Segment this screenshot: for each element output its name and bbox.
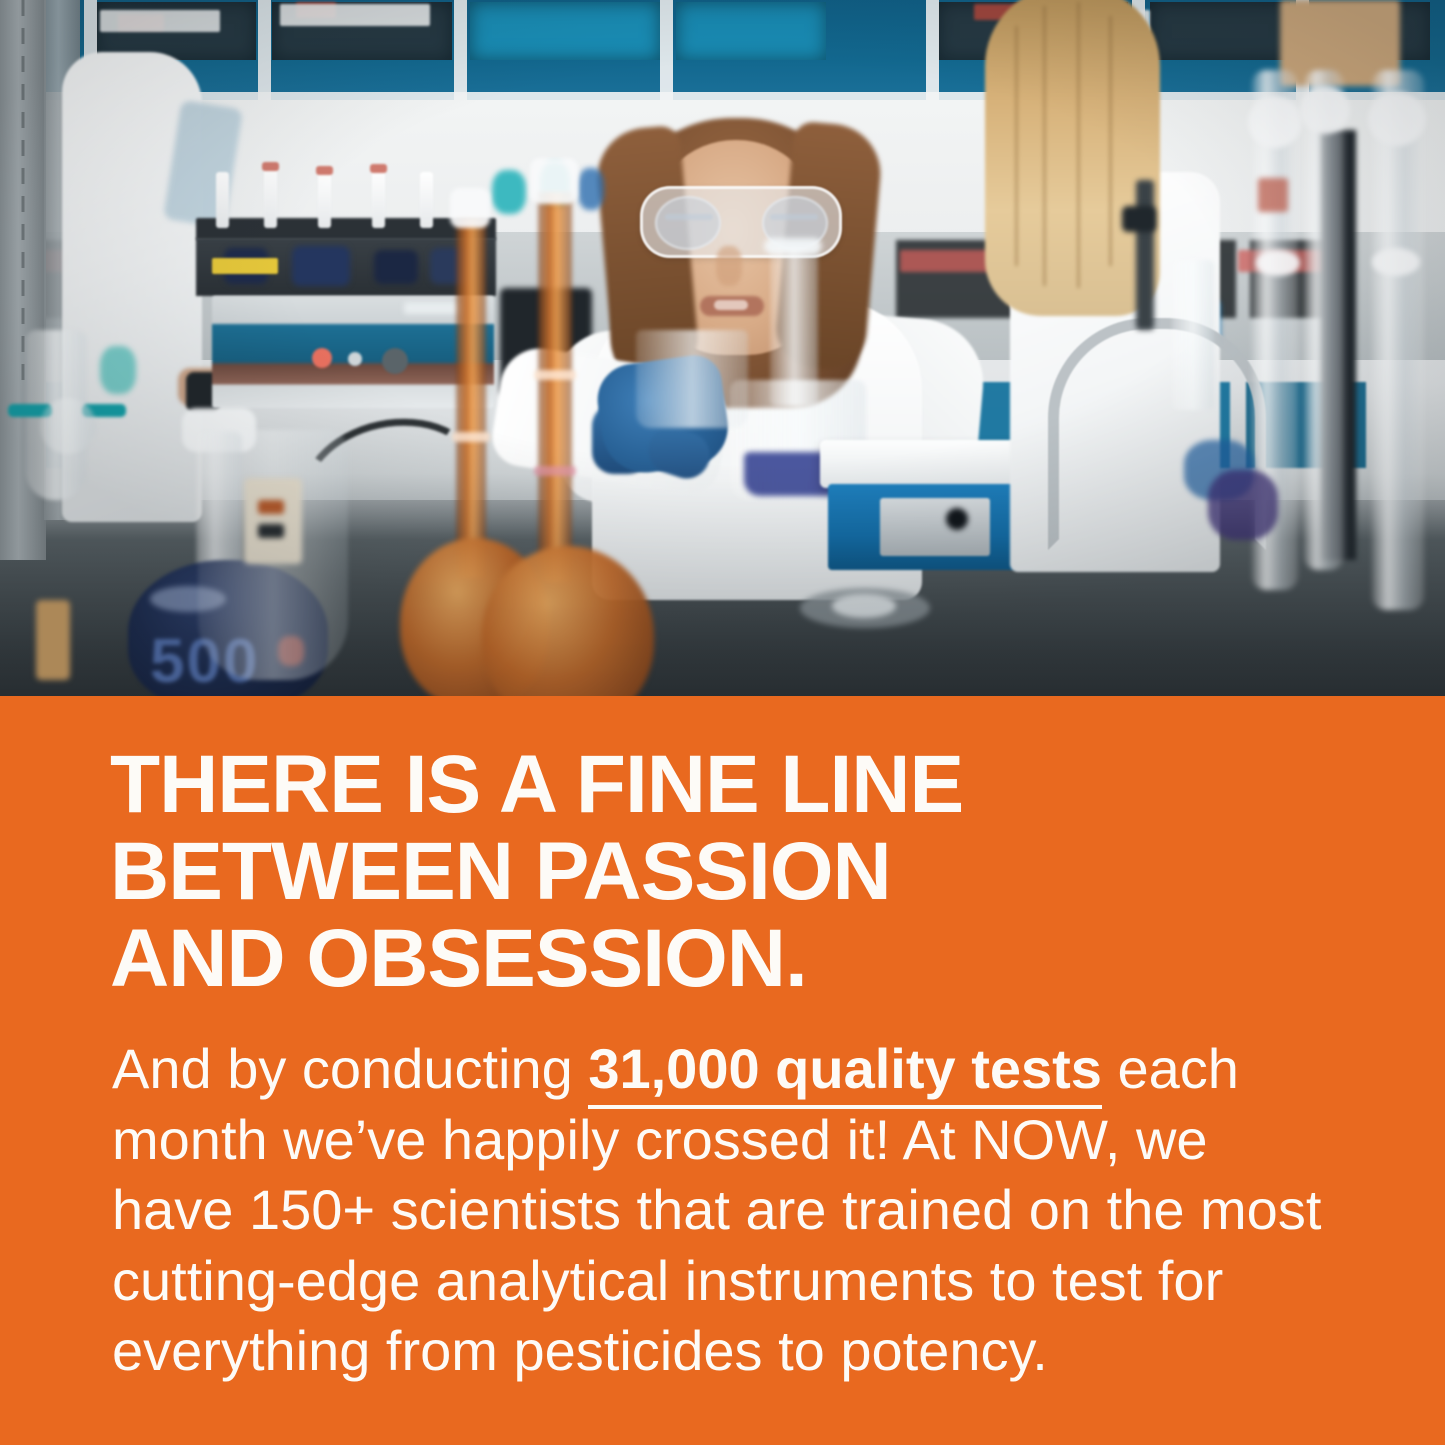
balance-knob [946, 508, 968, 530]
sample-vial [372, 168, 385, 228]
headline: THERE IS A FINE LINE BETWEEN PASSION AND… [110, 742, 1360, 1003]
instrument-knob-large [382, 348, 408, 374]
flask-rim-highlight [764, 238, 822, 254]
pipette-stand [1136, 180, 1154, 330]
vial-cap [370, 164, 387, 173]
teeth [714, 300, 748, 310]
glass-column [1304, 70, 1344, 570]
glass-column-cap [1248, 96, 1302, 148]
glass-column-cap [1368, 92, 1426, 146]
instrument-indicator-red [312, 348, 332, 368]
balance-display [880, 498, 990, 556]
amber-flask-neck [456, 218, 486, 578]
sample-vial [318, 170, 331, 228]
vial-cap [262, 162, 279, 171]
glass-column-cap [1300, 86, 1350, 134]
amber-flask-ring [534, 370, 576, 380]
instrument-vial-dark [374, 250, 418, 284]
flask-stopper-left [40, 398, 96, 454]
shelf-item-white [280, 4, 430, 26]
bottle-teal-bg [100, 346, 136, 394]
cabinet-frame [926, 0, 939, 100]
sample-vial [420, 172, 433, 228]
cabinet-glass-pane [676, 2, 826, 60]
cabinet-glass-pane [1150, 2, 1290, 60]
cabinet-glass-pane [470, 2, 660, 60]
scientist-right-blonde-hair [985, 0, 1160, 316]
instrument-vial-dark [292, 246, 350, 286]
outlet-socket [258, 500, 284, 514]
cabinet-frame [258, 0, 271, 100]
instrument-display-strip [404, 302, 462, 314]
clamp-knob [1122, 206, 1156, 232]
outlet-socket [258, 524, 284, 538]
instrument-label-yellow [212, 258, 278, 274]
sample-vial [216, 172, 229, 228]
glass-column-ring [1256, 250, 1300, 276]
bottle-teal-bg [492, 170, 526, 214]
cork-piece [36, 600, 70, 680]
electrical-outlet [244, 478, 302, 564]
glassware-right [1172, 260, 1214, 410]
amber-flask-stopper [450, 188, 490, 228]
advertisement-card: 500 THERE IS A FINE LINE BETWEEN PASSION… [0, 0, 1445, 1445]
vial-cap [316, 166, 333, 175]
amber-flask-ring [534, 466, 576, 476]
highlight-quality-tests: 31,000 quality tests [588, 1037, 1102, 1109]
cabinet-frame [454, 0, 467, 100]
nose [716, 246, 742, 286]
flask-purple-bg [1208, 470, 1278, 540]
shelf-item-white [100, 10, 220, 32]
amber-flask-neck [538, 192, 572, 582]
wall-indicator-lights [1258, 178, 1288, 212]
glass-column [1372, 70, 1424, 610]
bench-dish-inner [832, 594, 896, 618]
amber-flask-ring [452, 432, 490, 442]
body-copy: And by conducting 31,000 quality tests e… [112, 1034, 1327, 1387]
glass-column-ring [1372, 248, 1420, 276]
cabinet-frame [660, 0, 673, 100]
amber-flask-stopper [530, 158, 578, 204]
instrument-knob-small [348, 352, 362, 366]
lab-photo: 500 [0, 0, 1445, 696]
body-copy-part1: And by conducting [112, 1037, 588, 1100]
sample-vial [264, 166, 277, 228]
bottle-blue-bg [578, 168, 604, 210]
